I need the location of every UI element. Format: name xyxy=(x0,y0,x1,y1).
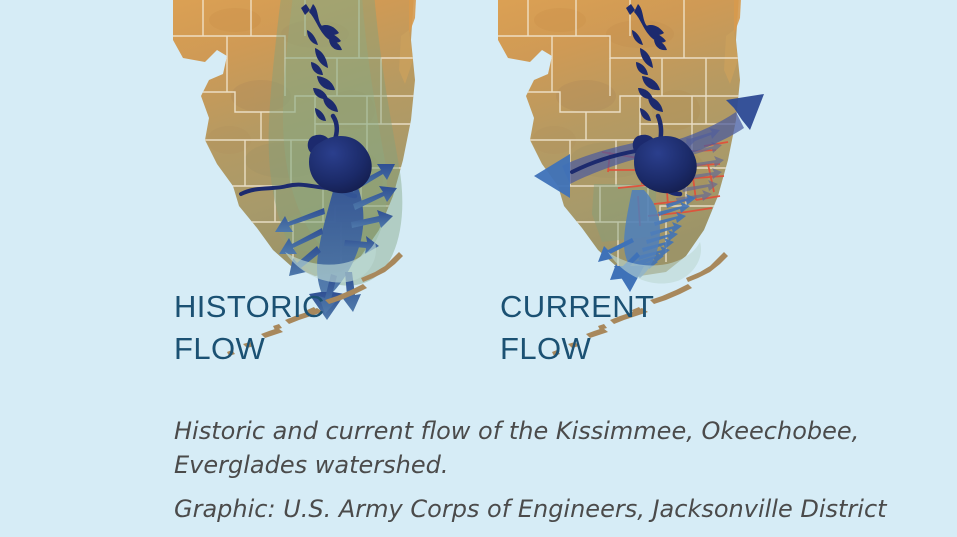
current-flow-label: CURRENT FLOW xyxy=(500,286,654,370)
caption-credit: Graphic: U.S. Army Corps of Engineers, J… xyxy=(174,492,874,526)
caption-line-2: Everglades watershed. xyxy=(174,448,874,482)
caption-block: Historic and current flow of the Kissimm… xyxy=(174,414,874,526)
caption-line-1: Historic and current flow of the Kissimm… xyxy=(174,414,874,448)
infographic-canvas: HISTORIC FLOW CURRENT FLOW Historic and … xyxy=(0,0,957,537)
historic-flow-label: HISTORIC FLOW xyxy=(174,286,325,370)
